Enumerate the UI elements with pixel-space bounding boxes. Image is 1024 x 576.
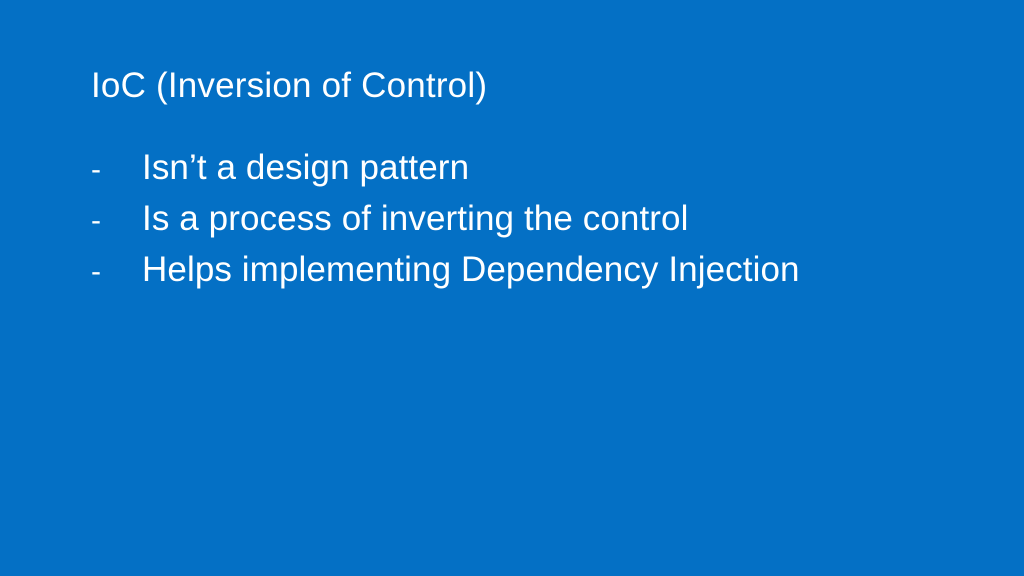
list-item: - Is a process of inverting the control (91, 193, 951, 244)
slide-canvas: IoC (Inversion of Control) - Isn’t a des… (0, 0, 1024, 576)
dash-bullet-icon: - (91, 246, 142, 297)
slide-title: IoC (Inversion of Control) (91, 64, 487, 108)
bullet-list: - Isn’t a design pattern - Is a process … (91, 142, 951, 295)
list-item: - Isn’t a design pattern (91, 142, 951, 193)
list-item-label: Helps implementing Dependency Injection (142, 244, 800, 295)
dash-bullet-icon: - (91, 144, 142, 195)
list-item-label: Is a process of inverting the control (142, 193, 688, 244)
dash-bullet-icon: - (91, 195, 142, 246)
list-item-label: Isn’t a design pattern (142, 142, 469, 193)
list-item: - Helps implementing Dependency Injectio… (91, 244, 951, 295)
